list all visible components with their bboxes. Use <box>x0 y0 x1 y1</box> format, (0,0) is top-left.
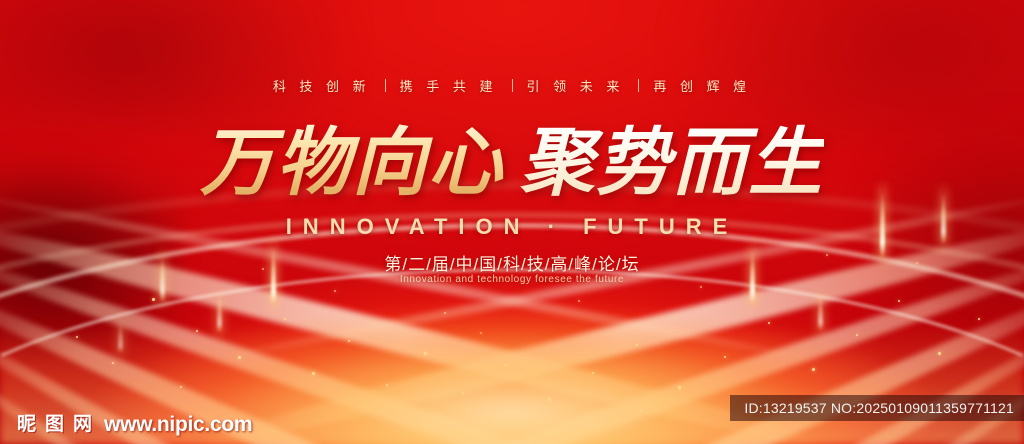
tagline-item-2: 引 领 未 来 <box>527 76 625 95</box>
tagline-separator <box>385 79 386 92</box>
main-title-part1: 万物向心 <box>200 121 504 204</box>
tagline-separator <box>638 79 639 92</box>
image-id-bar: ID:13219537 NO:20250109011359771121 <box>730 395 1024 421</box>
subtitle-chinese: 第/二/届/中/国/科/技/高/峰/论/坛 <box>0 250 1024 275</box>
tagline-row: 科 技 创 新 携 手 共 建 引 领 未 来 再 创 辉 煌 <box>0 76 1024 95</box>
main-title-part2: 聚势而生 <box>520 121 824 204</box>
poster-canvas: 科 技 创 新 携 手 共 建 引 领 未 来 再 创 辉 煌 万物向心聚势而生… <box>0 0 1024 444</box>
subtitle-english: Innovation and technology foresee the fu… <box>0 274 1024 285</box>
poster-content: 科 技 创 新 携 手 共 建 引 领 未 来 再 创 辉 煌 万物向心聚势而生… <box>0 0 1024 444</box>
watermark-url: www.nipic.com <box>104 413 252 437</box>
watermark-logo: 昵 图 网 <box>14 412 95 438</box>
main-title: 万物向心聚势而生 <box>0 126 1024 200</box>
tagline-item-1: 携 手 共 建 <box>400 76 498 95</box>
tagline-item-0: 科 技 创 新 <box>273 76 371 95</box>
watermark: 昵 图 网 www.nipic.com <box>14 412 252 438</box>
tagline-item-3: 再 创 辉 煌 <box>653 76 751 95</box>
watermark-logo-char-0: 昵 <box>14 412 39 438</box>
watermark-logo-char-1: 图 <box>42 412 67 438</box>
english-title: INNOVATION · FUTURE <box>0 214 1024 240</box>
watermark-logo-char-2: 网 <box>70 412 95 438</box>
tagline-separator <box>512 79 513 92</box>
